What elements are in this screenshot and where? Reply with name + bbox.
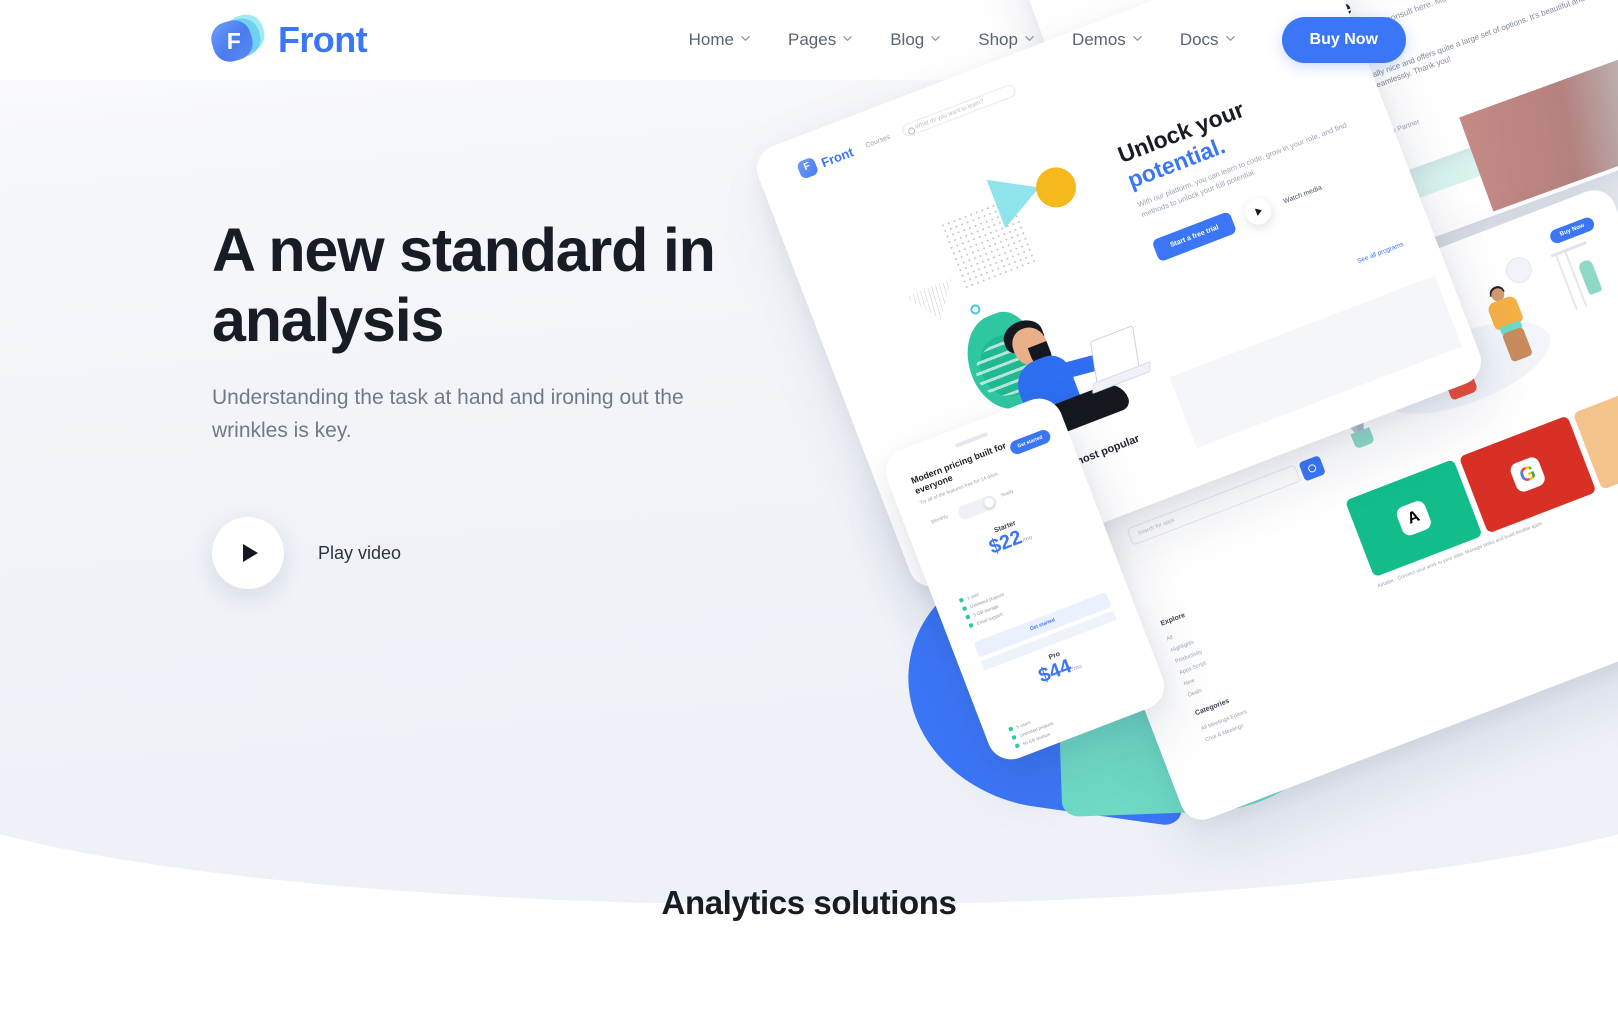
nav-item-shop[interactable]: Shop bbox=[959, 30, 1053, 50]
chevron-down-icon bbox=[1226, 34, 1235, 43]
front-logo-icon bbox=[796, 157, 819, 180]
phone-billing-toggle bbox=[956, 494, 998, 521]
chevron-down-icon bbox=[931, 34, 940, 43]
tablet-brand: Front bbox=[796, 142, 856, 179]
nav-item-pages[interactable]: Pages bbox=[769, 30, 871, 50]
tablet-play-icon bbox=[1242, 195, 1276, 229]
shelf-icon bbox=[1550, 240, 1611, 316]
tablet-nav-courses: Courses bbox=[864, 133, 891, 149]
play-icon bbox=[243, 544, 258, 562]
tablet-search-input: What do you want to learn? bbox=[901, 82, 1018, 137]
brand-logo[interactable]: F Front bbox=[212, 14, 367, 66]
phone-cta-button: Get started bbox=[1008, 428, 1053, 456]
brand-name: Front bbox=[278, 19, 367, 61]
apps-search-icon bbox=[1298, 455, 1326, 482]
page-title: A new standard in analysis bbox=[212, 215, 832, 355]
nav-label: Home bbox=[689, 30, 734, 50]
laptop-icon bbox=[1076, 325, 1151, 395]
chevron-down-icon bbox=[741, 34, 750, 43]
nav-item-docs[interactable]: Docs bbox=[1161, 30, 1254, 50]
tablet-see-all: See all programs bbox=[1356, 241, 1404, 265]
main-navigation: Home Pages Blog Shop Demos Docs bbox=[670, 17, 1618, 63]
apps-sidebar: Explore All Highlights Productivity Apps… bbox=[1160, 571, 1339, 746]
phone-toggle-yearly: Yearly bbox=[1000, 488, 1015, 499]
phone-toggle-monthly: Monthly bbox=[931, 514, 950, 526]
logo-letter: F bbox=[222, 27, 246, 55]
site-header: F Front Home Pages Blog Shop Demos bbox=[0, 0, 1618, 80]
chevron-down-icon bbox=[1025, 34, 1034, 43]
airtable-icon: A bbox=[1394, 499, 1433, 538]
section-title-analytics: Analytics solutions bbox=[0, 884, 1618, 922]
person2-legs bbox=[1502, 327, 1533, 363]
nav-label: Blog bbox=[890, 30, 924, 50]
tablet-cta-secondary: Watch media bbox=[1282, 184, 1322, 205]
chevron-down-icon bbox=[843, 34, 852, 43]
shelf-leg bbox=[1555, 255, 1578, 310]
nav-label: Shop bbox=[978, 30, 1018, 50]
hero-subtitle: Understanding the task at hand and ironi… bbox=[212, 381, 722, 447]
play-video-row[interactable]: Play video bbox=[212, 517, 832, 589]
tablet-brand-name: Front bbox=[819, 144, 855, 170]
chevron-down-icon bbox=[1133, 34, 1142, 43]
phone-plan-starter: Starter $22/mo bbox=[925, 493, 1094, 582]
nav-item-home[interactable]: Home bbox=[670, 30, 769, 50]
plan-feature: 1 user bbox=[966, 592, 979, 601]
nav-item-blog[interactable]: Blog bbox=[871, 30, 959, 50]
front-logo-icon: F bbox=[212, 14, 264, 66]
plan-price: $22/mo bbox=[927, 500, 1094, 582]
tablet-cta-button: Start a free trial bbox=[1151, 210, 1237, 261]
play-button[interactable] bbox=[212, 517, 284, 589]
hatch-decoration bbox=[905, 279, 964, 329]
landing-page: Support that helps every day Our team is… bbox=[0, 0, 1618, 1010]
nav-label: Demos bbox=[1072, 30, 1126, 50]
nav-label: Pages bbox=[788, 30, 836, 50]
phone-notch bbox=[955, 432, 988, 448]
plan-feature: 5 users bbox=[1016, 720, 1032, 730]
play-video-label[interactable]: Play video bbox=[318, 543, 401, 564]
hero-illustration: Support that helps every day Our team is… bbox=[800, 0, 1618, 810]
nav-label: Docs bbox=[1180, 30, 1219, 50]
google-icon: G bbox=[1508, 455, 1547, 494]
phone-plan-features-starter: 1 user Unlimited projects 5 GB storage E… bbox=[958, 582, 1012, 631]
nav-item-demos[interactable]: Demos bbox=[1053, 30, 1161, 50]
buy-now-button[interactable]: Buy Now bbox=[1282, 17, 1406, 63]
hero-content: A new standard in analysis Understanding… bbox=[212, 215, 832, 589]
